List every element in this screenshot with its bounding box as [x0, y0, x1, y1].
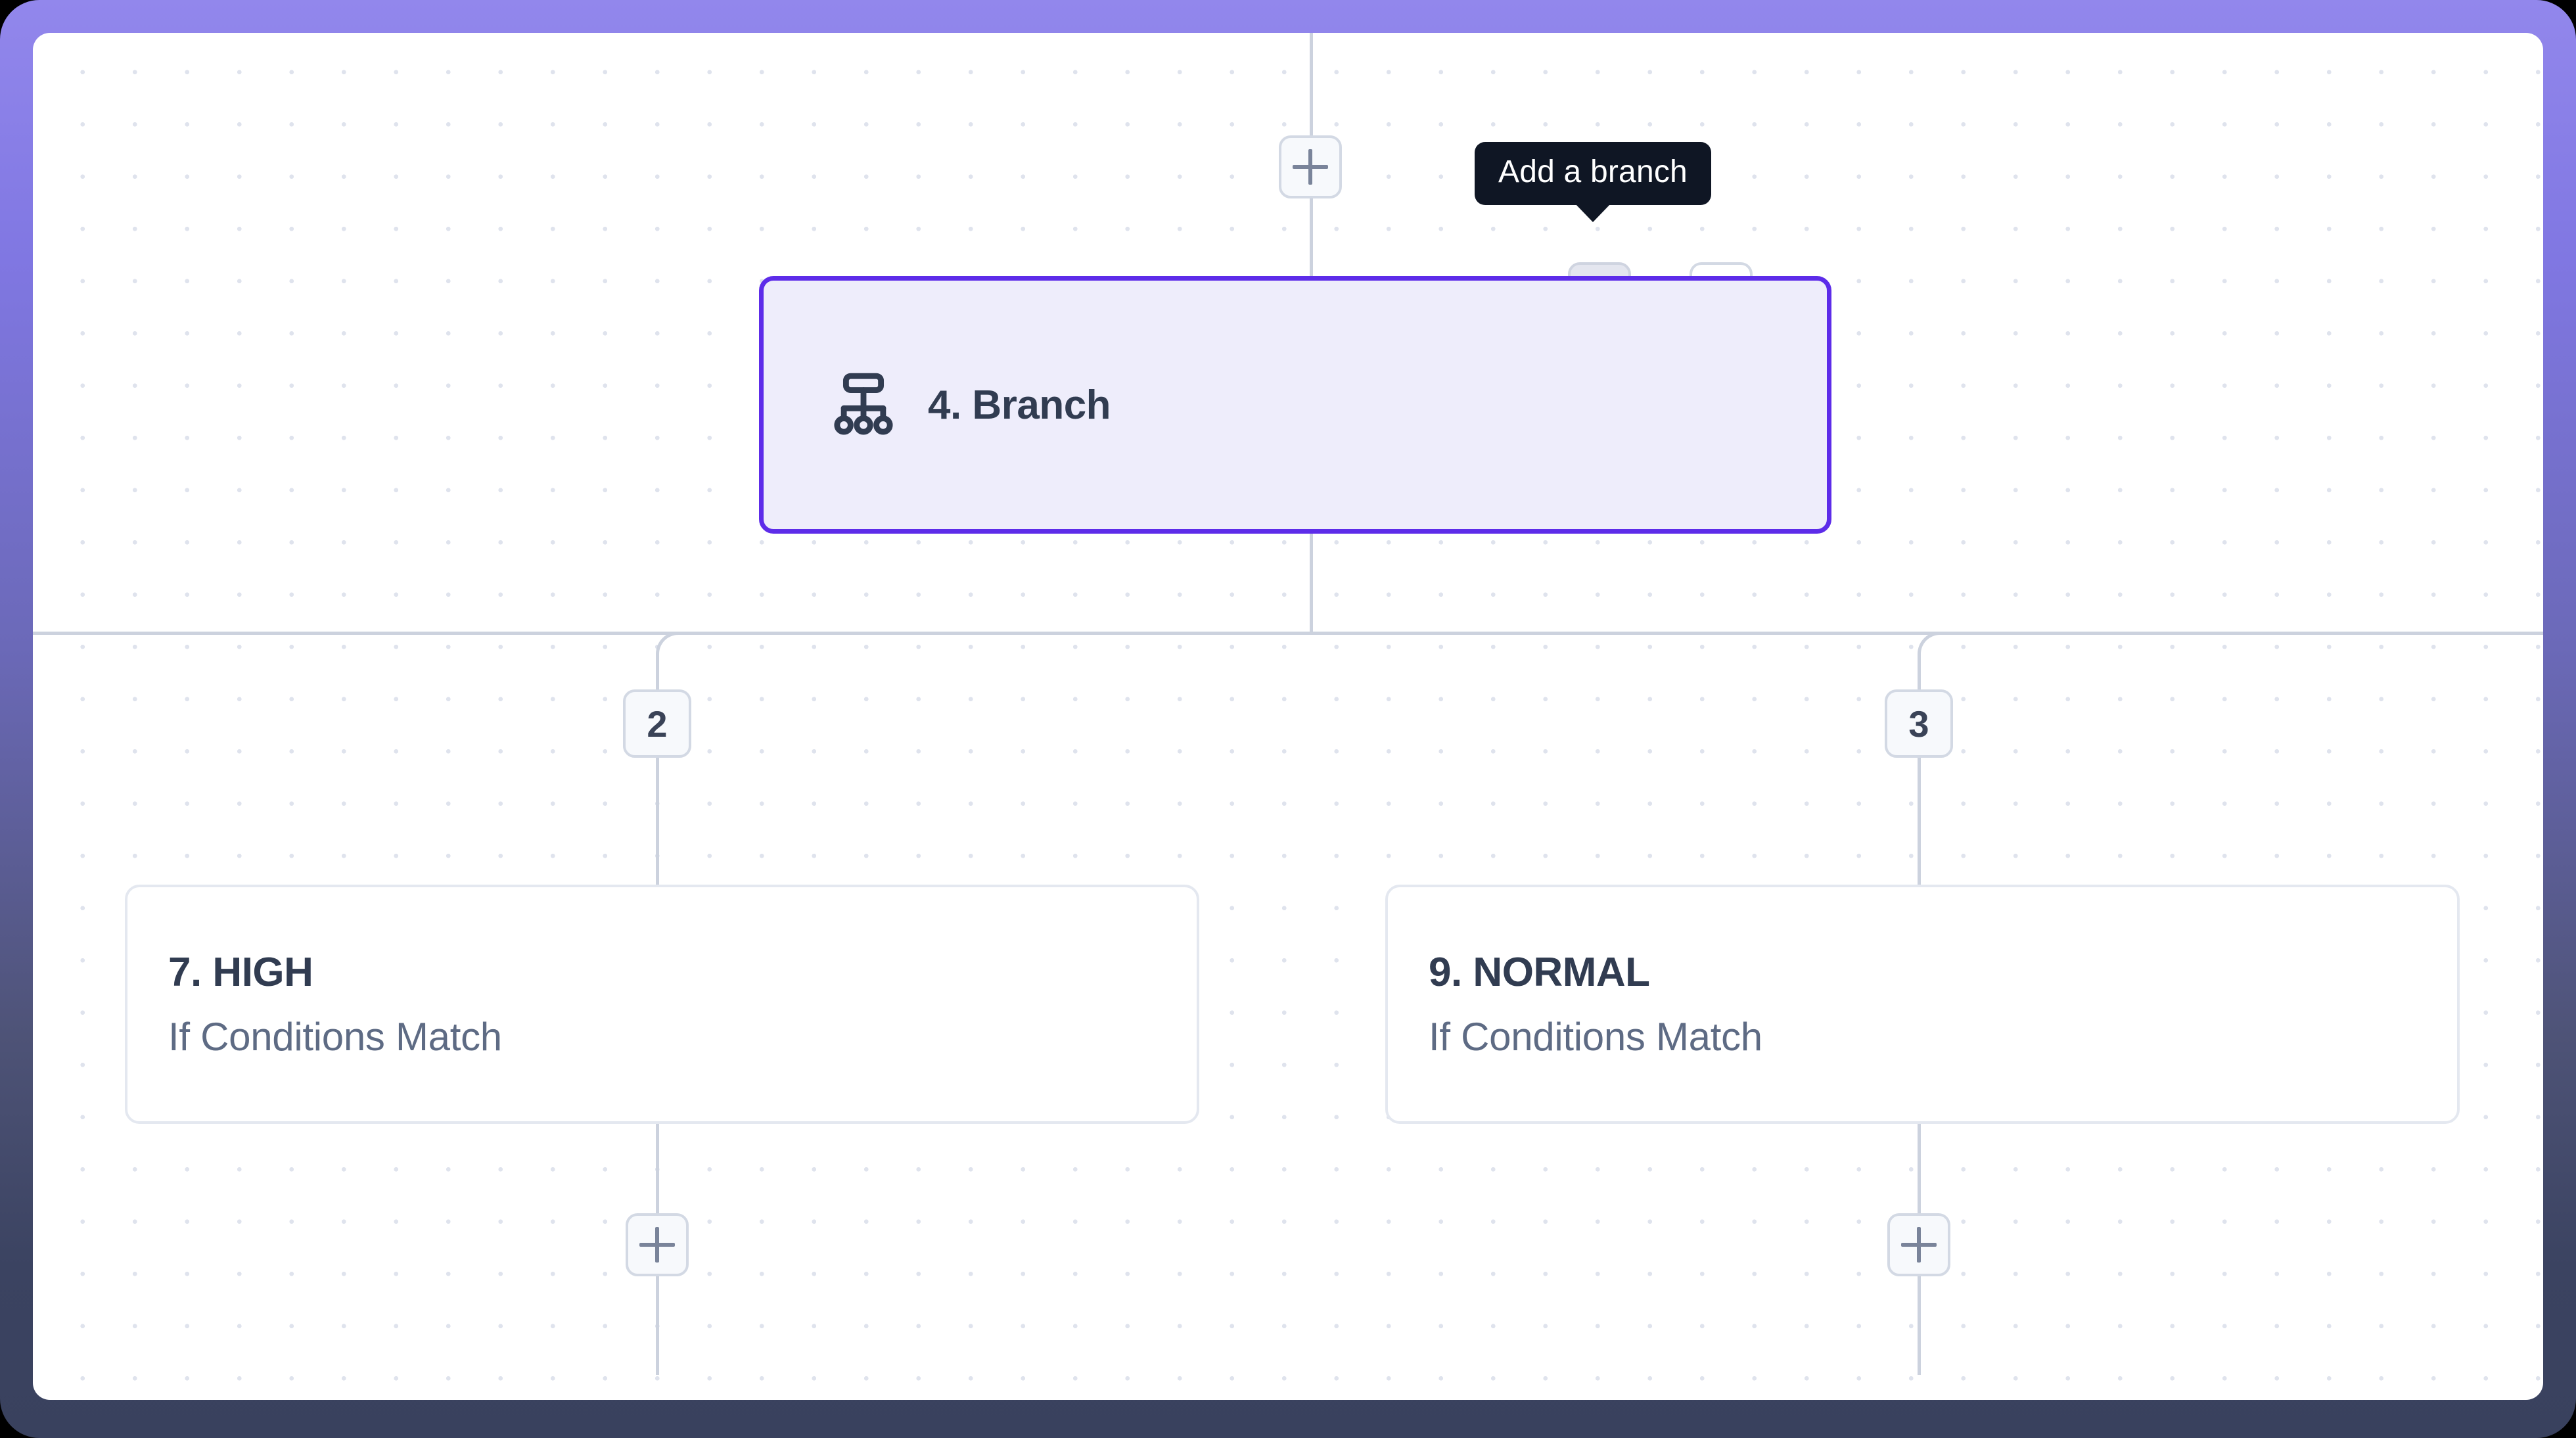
- workflow-node-branch[interactable]: 4. Branch: [759, 276, 1831, 534]
- add-step-button-branch-2[interactable]: [1887, 1213, 1950, 1276]
- node-subtitle-high: If Conditions Match: [168, 1014, 1156, 1059]
- edge-branch-right-to-card: [1918, 758, 1921, 885]
- edge-trunk-bottom: [1310, 532, 1313, 635]
- edge-split-horizontal: [33, 632, 2543, 635]
- plus-icon: [1293, 149, 1328, 185]
- workflow-node-high[interactable]: 7. HIGH If Conditions Match: [125, 885, 1199, 1124]
- tooltip-add-a-branch: Add a branch: [1475, 142, 1711, 205]
- plus-icon: [1901, 1227, 1937, 1263]
- workflow-builder-frame: Add a branch: [0, 0, 2576, 1438]
- edge-branch-left-elbow: [656, 632, 681, 661]
- node-title-normal: 9. NORMAL: [1429, 949, 2416, 996]
- edge-branch-left-to-card: [656, 758, 659, 885]
- edge-branch-left-below-card: [656, 1124, 659, 1213]
- edge-branch-right-below-card: [1918, 1124, 1921, 1213]
- branch-index-badge-1[interactable]: 2: [623, 689, 691, 758]
- node-title-high: 7. HIGH: [168, 949, 1156, 996]
- edge-branch-right-stem: [1918, 657, 1921, 690]
- plus-icon: [639, 1227, 675, 1263]
- workflow-node-normal[interactable]: 9. NORMAL If Conditions Match: [1385, 885, 2460, 1124]
- edge-trunk-top: [1310, 33, 1313, 135]
- edge-branch-right-tail: [1918, 1276, 1921, 1375]
- edge-branch-right-elbow: [1918, 632, 1943, 661]
- tooltip-label: Add a branch: [1498, 154, 1688, 189]
- add-step-button-branch-1[interactable]: [626, 1213, 689, 1276]
- edge-branch-left-stem: [656, 657, 659, 690]
- edge-branch-left-tail: [656, 1276, 659, 1375]
- branch-hierarchy-icon: [827, 368, 900, 442]
- node-subtitle-normal: If Conditions Match: [1429, 1014, 2416, 1059]
- workflow-canvas[interactable]: Add a branch: [33, 33, 2543, 1400]
- branch-index-badge-2[interactable]: 3: [1885, 689, 1953, 758]
- branch-node-title: 4. Branch: [928, 382, 1111, 429]
- add-step-button-top[interactable]: [1279, 135, 1342, 198]
